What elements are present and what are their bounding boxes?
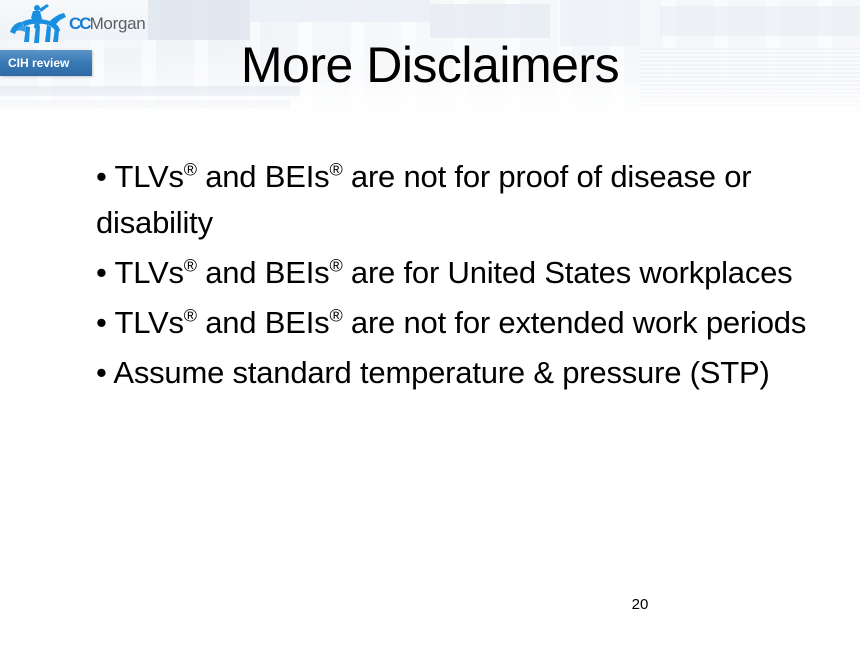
registered-trademark-mark: ® [329,256,342,276]
slide-body: • TLVs® and BEIs® are not for proof of d… [96,154,808,400]
logo-cc-text: CC [69,14,90,34]
slide-page-number: 20 [620,596,660,613]
logo-name-text: Morgan [90,14,146,34]
presentation-slide: CCMorgan CIH review More Disclaimers • T… [0,0,860,650]
bullet-item: • TLVs® and BEIs® are not for proof of d… [96,154,808,246]
registered-trademark-mark: ® [184,306,197,326]
company-wordmark: CCMorgan [69,14,145,34]
slide-title: More Disclaimers [0,36,860,94]
registered-trademark-mark: ® [184,256,197,276]
registered-trademark-mark: ® [329,306,342,326]
registered-trademark-mark: ® [329,160,342,180]
bullet-item: • TLVs® and BEIs® are not for extended w… [96,300,808,346]
bullet-item: • Assume standard temperature & pressure… [96,350,808,396]
registered-trademark-mark: ® [184,160,197,180]
bullet-item: • TLVs® and BEIs® are for United States … [96,250,808,296]
